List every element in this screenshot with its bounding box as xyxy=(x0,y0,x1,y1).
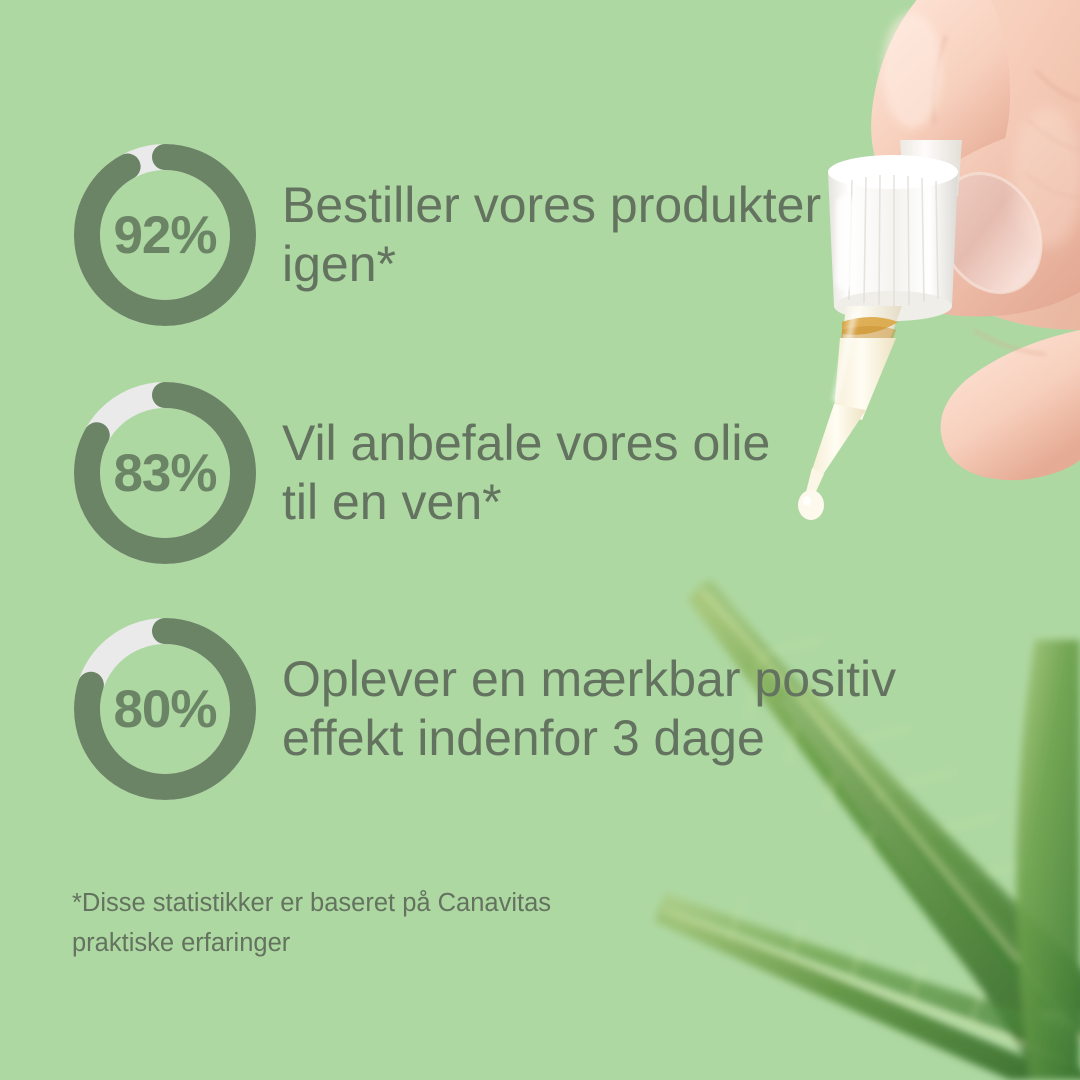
hand-holding-dropper-icon xyxy=(798,0,1080,520)
stat-description: Oplever en mærkbar positiv effekt indenf… xyxy=(282,650,896,768)
percent-label: 83% xyxy=(70,378,260,568)
stat-row: 92% Bestiller vores produkter igen* xyxy=(70,140,821,330)
stat-description: Bestiller vores produkter igen* xyxy=(282,176,821,294)
infographic-poster: 92% Bestiller vores produkter igen* 83% … xyxy=(0,0,1080,1080)
percent-label: 92% xyxy=(70,140,260,330)
stat-row: 83% Vil anbefale vores olie til en ven* xyxy=(70,378,770,568)
stat-row: 80% Oplever en mærkbar positiv effekt in… xyxy=(70,614,896,804)
percent-label: 80% xyxy=(70,614,260,804)
stat-description: Vil anbefale vores olie til en ven* xyxy=(282,414,770,532)
donut-gauge-92: 92% xyxy=(70,140,260,330)
donut-gauge-80: 80% xyxy=(70,614,260,804)
footnote-text: *Disse statistikker er baseret på Canavi… xyxy=(72,884,632,963)
oil-droplet-icon xyxy=(798,490,824,520)
donut-gauge-83: 83% xyxy=(70,378,260,568)
